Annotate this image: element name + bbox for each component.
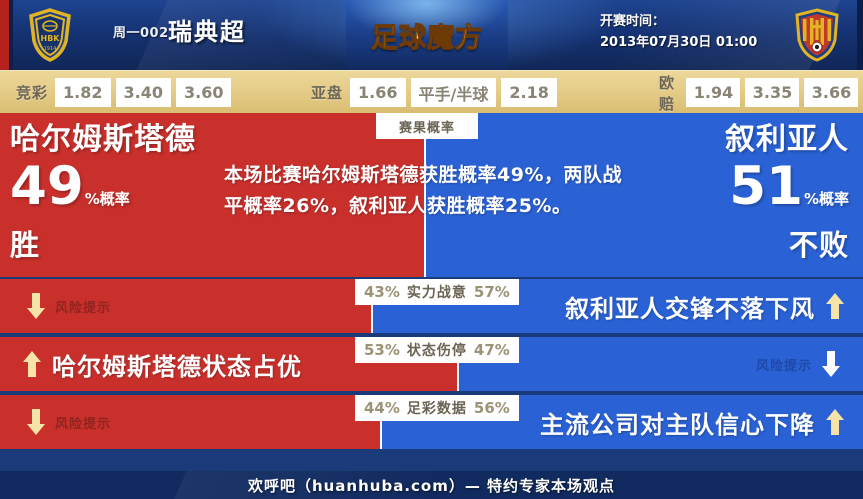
footer-credit-text: 欢呼吧（huanhuba.com）— 特约专家本场观点 xyxy=(248,475,615,496)
kickoff-value: 2013年07月30日 01:00 xyxy=(600,32,757,53)
odds-group-label: 竞彩 xyxy=(16,82,48,103)
odds-value[interactable]: 3.66 xyxy=(804,78,858,107)
brand-logo[interactable]: 足球魔方 xyxy=(346,0,508,70)
kickoff-label: 开赛时间： xyxy=(600,11,757,32)
row-left-pct: 44% xyxy=(364,399,400,417)
away-result-label: 不败 xyxy=(634,227,849,263)
odds-value[interactable]: 2.18 xyxy=(501,78,556,107)
odds-group-jingcai: 竞彩 1.82 3.40 3.60 xyxy=(16,71,236,114)
header-left-dark-edge xyxy=(9,0,13,70)
odds-group-label: 亚盘 xyxy=(311,82,343,103)
odds-bar: 竞彩 1.82 3.40 3.60 亚盘 1.66 平手/半球 2.18 欧赔 … xyxy=(0,70,863,113)
odds-group-yapan: 亚盘 1.66 平手/半球 2.18 xyxy=(311,71,562,114)
row-left-pct: 53% xyxy=(364,341,400,359)
brand-logo-text: 足球魔方 xyxy=(371,16,483,55)
row-chip-strength: 43% 实力战意 57% xyxy=(355,279,519,305)
row-risk-away-label: 风险提示 xyxy=(756,355,812,374)
row-verdict-away-label: 叙利亚人交锋不落下风 xyxy=(565,289,815,324)
home-result-label: 胜 xyxy=(10,227,215,263)
away-probability-number: 51 xyxy=(729,156,803,217)
arrow-down-icon xyxy=(821,349,841,379)
comparison-row-form: 哈尔姆斯塔德状态占优 风险提示 53% 状态伤停 47% xyxy=(0,337,863,391)
league-name: 瑞典超 xyxy=(168,12,246,47)
row-verdict-away: 主流公司对主队信心下降 xyxy=(540,395,845,449)
header-right-dark-edge xyxy=(857,0,863,70)
row-risk-home-label: 风险提示 xyxy=(55,413,111,432)
odds-handicap-value[interactable]: 平手/半球 xyxy=(411,78,497,107)
row-right-pct: 57% xyxy=(474,283,510,301)
row-right-pct: 56% xyxy=(474,399,510,417)
match-summary-text: 本场比赛哈尔姆斯塔德获胜概率49%，两队战平概率26%，叙利亚人获胜概率25%。 xyxy=(224,160,632,222)
arrow-down-icon xyxy=(26,291,46,321)
row-risk-home: 风险提示 xyxy=(26,395,111,449)
row-metric-name: 实力战意 xyxy=(407,282,467,302)
kickoff-time: 开赛时间： 2013年07月30日 01:00 xyxy=(600,11,757,53)
row-risk-away: 风险提示 xyxy=(756,337,841,391)
home-team-crest-icon: HBK 1914 xyxy=(22,7,78,63)
row-risk-home: 风险提示 xyxy=(26,279,111,333)
svg-text:1914: 1914 xyxy=(44,46,57,52)
away-team-name: 叙利亚人 xyxy=(634,121,849,159)
row-verdict-away-label: 主流公司对主队信心下降 xyxy=(540,405,815,440)
row-verdict-away: 叙利亚人交锋不落下风 xyxy=(565,279,845,333)
row-chip-form: 53% 状态伤停 47% xyxy=(355,337,519,363)
odds-value[interactable]: 1.94 xyxy=(686,78,740,107)
away-probability-suffix: %概率 xyxy=(804,190,849,208)
away-team-crest-icon xyxy=(789,7,845,63)
odds-value[interactable]: 3.35 xyxy=(745,78,799,107)
odds-value[interactable]: 3.40 xyxy=(116,78,171,107)
odds-group-label: 欧赔 xyxy=(659,72,679,114)
header-bar: HBK 1914 周一002 瑞典超 xyxy=(0,0,863,70)
comparison-row-betting: 风险提示 主流公司对主队信心下降 44% 足彩数据 56% xyxy=(0,395,863,449)
away-probability-value: 51%概率 xyxy=(634,159,849,227)
row-left-pct: 43% xyxy=(364,283,400,301)
brand-logo-part2: 魔方 xyxy=(427,23,483,54)
arrow-up-icon xyxy=(825,407,845,437)
row-right-pct: 47% xyxy=(474,341,510,359)
odds-value[interactable]: 1.66 xyxy=(350,78,405,107)
home-probability-number: 49 xyxy=(10,156,84,217)
odds-value[interactable]: 3.60 xyxy=(176,78,231,107)
odds-value[interactable]: 1.82 xyxy=(55,78,110,107)
comparison-row-strength: 风险提示 叙利亚人交锋不落下风 43% 实力战意 57% xyxy=(0,279,863,333)
home-team-name: 哈尔姆斯塔德 xyxy=(10,121,215,159)
home-team-summary: 哈尔姆斯塔德 49%概率 胜 xyxy=(10,121,215,263)
row-chip-betting: 44% 足彩数据 56% xyxy=(355,395,519,421)
arrow-up-icon xyxy=(22,349,42,379)
svg-text:HBK: HBK xyxy=(41,34,61,43)
odds-group-oupei: 欧赔 1.94 3.35 3.66 xyxy=(659,71,863,114)
result-probability-chip: 赛果概率 xyxy=(376,113,478,139)
match-number: 周一002 xyxy=(113,22,169,41)
match-preview-infographic: HBK 1914 周一002 瑞典超 xyxy=(0,0,863,499)
row-verdict-home-label: 哈尔姆斯塔德状态占优 xyxy=(52,347,302,382)
arrow-up-icon xyxy=(825,291,845,321)
row-verdict-home: 哈尔姆斯塔德状态占优 xyxy=(22,337,302,391)
home-probability-value: 49%概率 xyxy=(10,159,215,227)
arrow-down-icon xyxy=(26,407,46,437)
row-metric-name: 状态伤停 xyxy=(407,340,467,360)
row-risk-home-label: 风险提示 xyxy=(55,297,111,316)
home-probability-suffix: %概率 xyxy=(85,190,130,208)
header-left-red-edge xyxy=(0,0,9,70)
row-metric-name: 足彩数据 xyxy=(407,398,467,418)
footer-bar: 欢呼吧（huanhuba.com）— 特约专家本场观点 xyxy=(0,471,863,499)
away-team-summary: 叙利亚人 51%概率 不败 xyxy=(634,121,849,263)
brand-logo-part1: 足球 xyxy=(371,23,427,54)
